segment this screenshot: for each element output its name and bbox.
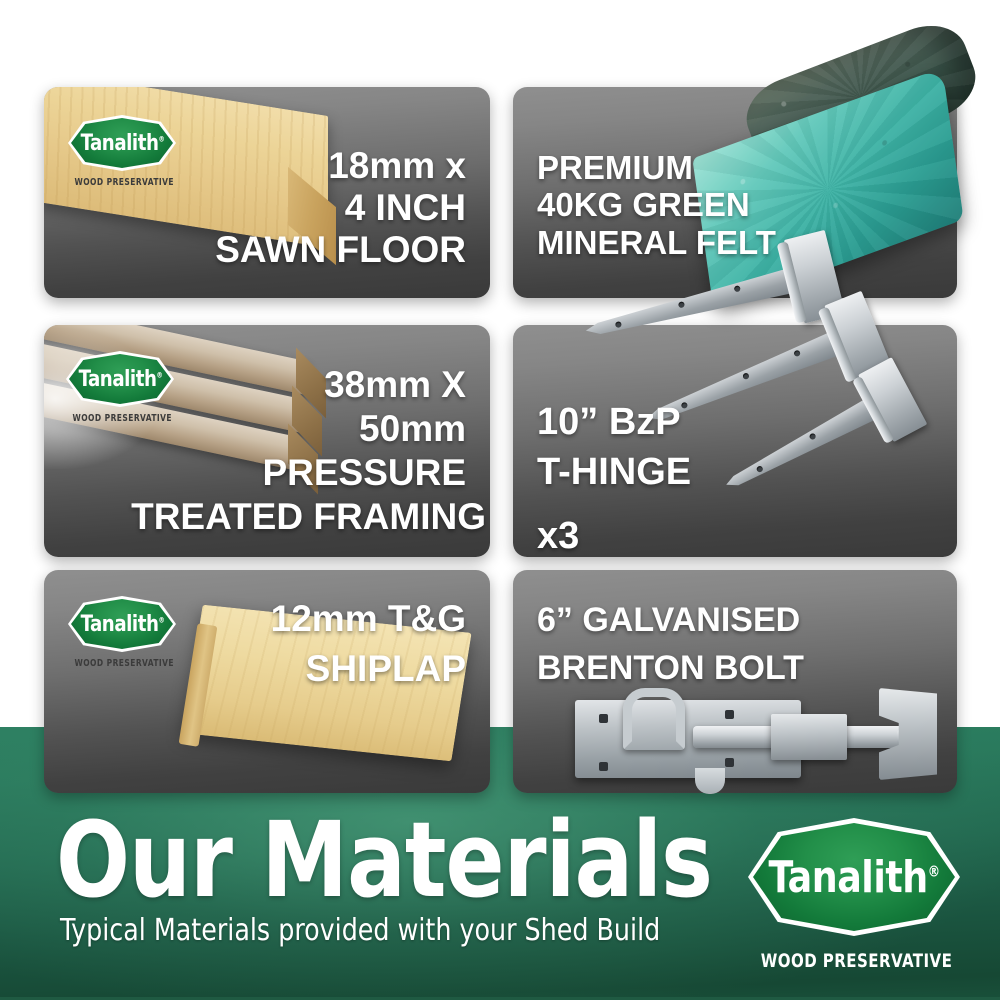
logo-wordmark: Tanalith®: [768, 852, 939, 903]
logo-hex: Tanalith®: [68, 596, 176, 652]
card-line: 10” BzP: [537, 397, 691, 447]
page-title: Our Materials: [56, 812, 707, 908]
bolt-tab: [695, 768, 725, 794]
card-label-sawn-floor: 18mm x 4 INCH SAWN FLOOR: [215, 145, 466, 270]
logo-hex: Tanalith®: [68, 115, 176, 171]
bolt-sleeve: [771, 714, 847, 760]
logo-wordmark: Tanalith®: [80, 612, 164, 637]
tanalith-logo: Tanalith® WOOD PRESERVATIVE: [68, 115, 176, 188]
card-label-brenton-bolt: 6” GALVANISED BRENTON BOLT: [537, 596, 804, 692]
card-line: BRENTON BOLT: [537, 644, 804, 692]
hinge-strap: [721, 392, 888, 496]
logo-tagline: WOOD PRESERVATIVE: [74, 658, 169, 669]
logo-hex-fill: Tanalith®: [71, 599, 173, 649]
card-label-framing: 38mm X 50mm PRESSURE TREATED FRAMING: [131, 363, 486, 539]
material-card-mineral-felt[interactable]: PREMIUM 40KG GREEN MINERAL FELT: [513, 87, 957, 298]
card-line: x3: [537, 511, 691, 561]
footer-text-block: Our Materials Typical Materials provided…: [56, 812, 756, 948]
logo-hex-fill: Tanalith®: [753, 823, 955, 931]
bolt-hole: [725, 758, 734, 767]
material-card-shiplap[interactable]: Tanalith® WOOD PRESERVATIVE 12mm T&G SHI…: [44, 570, 490, 793]
material-card-sawn-floor[interactable]: Tanalith® WOOD PRESERVATIVE 18mm x 4 INC…: [44, 87, 490, 298]
card-line: 4 INCH: [215, 187, 466, 229]
card-line: 40KG GREEN: [537, 186, 776, 223]
logo-tagline: WOOD PRESERVATIVE: [761, 950, 948, 972]
logo-hex-fill: Tanalith®: [71, 118, 173, 168]
tanalith-logo: Tanalith® WOOD PRESERVATIVE: [68, 596, 176, 669]
material-card-pressure-treated-framing[interactable]: Tanalith® WOOD PRESERVATIVE 38mm X 50mm …: [44, 325, 490, 557]
page-subtitle: Typical Materials provided with your She…: [60, 914, 714, 948]
card-line: T-HINGE: [537, 447, 691, 497]
logo-tagline: WOOD PRESERVATIVE: [74, 177, 169, 188]
card-line: SHIPLAP: [271, 644, 466, 694]
card-label-shiplap: 12mm T&G SHIPLAP: [271, 594, 466, 694]
logo-registered-mark: ®: [158, 134, 164, 143]
logo-hex-inner: Tanalith®: [753, 823, 955, 931]
logo-registered-mark: ®: [158, 615, 164, 624]
card-line: 38mm X: [131, 363, 486, 407]
card-line: 18mm x: [215, 145, 466, 187]
bolt-hole: [725, 710, 734, 719]
card-line: SAWN FLOOR: [215, 229, 466, 271]
brenton-bolt-image: [575, 682, 965, 812]
material-card-t-hinge[interactable]: 10” BzP T-HINGE x3: [513, 325, 957, 557]
card-label-mineral-felt: PREMIUM 40KG GREEN MINERAL FELT: [537, 149, 776, 261]
logo-wordmark: Tanalith®: [80, 131, 164, 156]
card-line: PRESSURE: [131, 451, 486, 495]
logo-hex-inner: Tanalith®: [71, 599, 173, 649]
card-line: PREMIUM: [537, 149, 776, 186]
material-card-brenton-bolt[interactable]: 6” GALVANISED BRENTON BOLT: [513, 570, 957, 793]
card-label-t-hinge: 10” BzP T-HINGE x3: [537, 397, 691, 561]
tanalith-logo-footer: Tanalith® WOOD PRESERVATIVE: [748, 818, 960, 972]
logo-hex: Tanalith®: [748, 818, 960, 936]
bolt-hole: [599, 762, 608, 771]
card-line: MINERAL FELT: [537, 224, 776, 261]
logo-registered-mark: ®: [928, 862, 940, 880]
bolt-hole: [599, 714, 608, 723]
card-line: TREATED FRAMING: [131, 495, 486, 539]
logo-hex-inner: Tanalith®: [71, 118, 173, 168]
card-line: 6” GALVANISED: [537, 596, 804, 644]
bolt-loop: [623, 688, 685, 750]
card-line: 50mm: [131, 407, 486, 451]
card-line: 12mm T&G: [271, 594, 466, 644]
